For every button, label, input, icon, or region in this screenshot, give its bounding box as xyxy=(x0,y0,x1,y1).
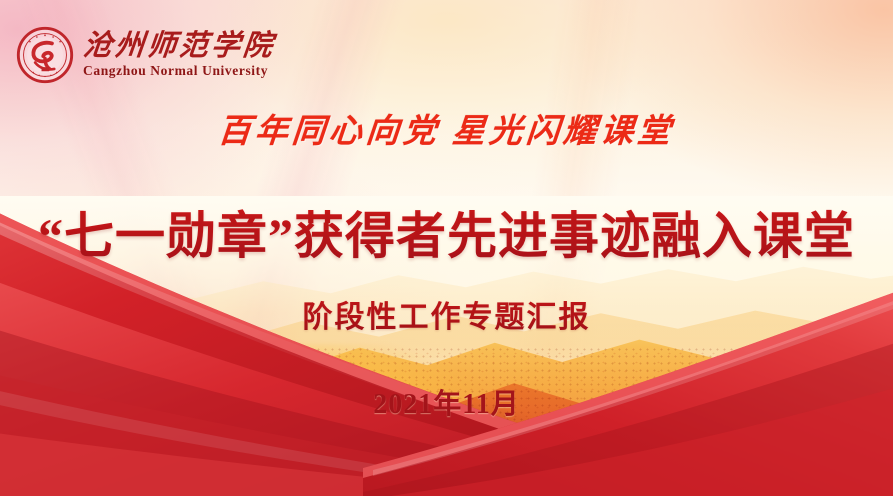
headline-block: 百年同心向党 星光闪耀课堂 “七一勋章”获得者先进事迹融入课堂 阶段性工作专题汇… xyxy=(0,104,893,422)
cangzhou-normal-university-seal-icon xyxy=(16,26,74,84)
university-logo: 沧州师范学院 Cangzhou Normal University xyxy=(16,24,275,86)
university-name-block: 沧州师范学院 Cangzhou Normal University xyxy=(83,31,275,79)
university-name-cn: 沧州师范学院 xyxy=(81,31,276,62)
presentation-title-slide: 沧州师范学院 Cangzhou Normal University 百年同心向党… xyxy=(0,0,893,496)
university-name-en: Cangzhou Normal University xyxy=(83,63,275,79)
page-title: “七一勋章”获得者先进事迹融入课堂 xyxy=(0,196,893,268)
date-line: 2021年11月 xyxy=(0,382,893,422)
slogan-line: 百年同心向党 星光闪耀课堂 xyxy=(0,104,893,152)
subtitle-line: 阶段性工作专题汇报 xyxy=(0,292,893,336)
